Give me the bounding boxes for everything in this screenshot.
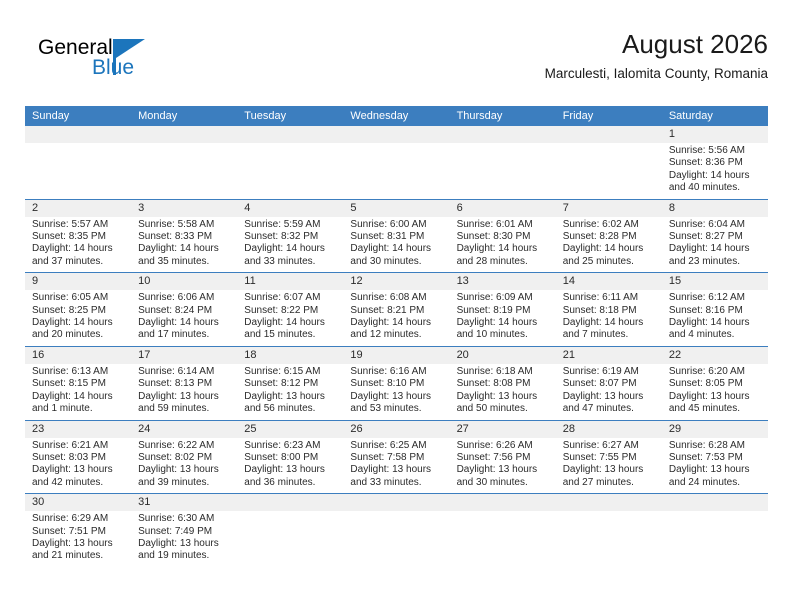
day-number: 12 bbox=[350, 273, 442, 290]
day-detail-line: Sunset: 8:15 PM bbox=[32, 378, 124, 390]
day-number: 30 bbox=[32, 494, 124, 511]
calendar-day-cell[interactable]: 28Sunrise: 6:27 AMSunset: 7:55 PMDayligh… bbox=[556, 421, 662, 494]
day-number: 13 bbox=[457, 273, 549, 290]
day-detail-lines: Sunrise: 6:29 AMSunset: 7:51 PMDaylight:… bbox=[32, 513, 124, 563]
day-detail-line: and 21 minutes. bbox=[32, 550, 124, 562]
day-detail-line: Sunset: 8:08 PM bbox=[457, 378, 549, 390]
day-detail-line: Daylight: 14 hours bbox=[138, 243, 230, 255]
calendar-day-cell[interactable]: 2Sunrise: 5:57 AMSunset: 8:35 PMDaylight… bbox=[25, 200, 131, 273]
day-detail-line: Sunset: 8:33 PM bbox=[138, 231, 230, 243]
calendar-day-cell[interactable]: 24Sunrise: 6:22 AMSunset: 8:02 PMDayligh… bbox=[131, 421, 237, 494]
day-detail-line: Sunrise: 6:04 AM bbox=[669, 219, 761, 231]
day-detail-line: Sunrise: 5:59 AM bbox=[244, 219, 336, 231]
day-detail-line: Sunrise: 5:58 AM bbox=[138, 219, 230, 231]
calendar-week-days: 1Sunrise: 5:56 AMSunset: 8:36 PMDaylight… bbox=[25, 126, 768, 199]
day-detail-line: Sunrise: 6:21 AM bbox=[32, 440, 124, 452]
day-detail-line: Sunrise: 6:07 AM bbox=[244, 292, 336, 304]
day-number: 10 bbox=[138, 273, 230, 290]
day-number: 21 bbox=[563, 347, 655, 364]
day-number: 27 bbox=[457, 421, 549, 438]
calendar-day-cell[interactable]: 23Sunrise: 6:21 AMSunset: 8:03 PMDayligh… bbox=[25, 421, 131, 494]
day-detail-line: Daylight: 13 hours bbox=[244, 391, 336, 403]
day-number: 24 bbox=[138, 421, 230, 438]
day-number: 26 bbox=[350, 421, 442, 438]
logo-text-blue: Blue bbox=[92, 56, 134, 80]
calendar-day-cell-empty bbox=[237, 126, 343, 199]
weekday-header-tuesday: Tuesday bbox=[237, 106, 343, 126]
day-detail-lines: Sunrise: 6:20 AMSunset: 8:05 PMDaylight:… bbox=[669, 366, 761, 416]
day-detail-line: Sunrise: 6:05 AM bbox=[32, 292, 124, 304]
calendar-day-cell[interactable]: 31Sunrise: 6:30 AMSunset: 7:49 PMDayligh… bbox=[131, 494, 237, 567]
calendar-day-cell[interactable]: 6Sunrise: 6:01 AMSunset: 8:30 PMDaylight… bbox=[450, 200, 556, 273]
day-detail-line: Sunrise: 6:01 AM bbox=[457, 219, 549, 231]
day-detail-line: Sunset: 7:49 PM bbox=[138, 526, 230, 538]
calendar-day-cell-empty bbox=[450, 126, 556, 199]
day-detail-line: Sunrise: 6:09 AM bbox=[457, 292, 549, 304]
day-detail-line: and 33 minutes. bbox=[244, 256, 336, 268]
day-detail-lines: Sunrise: 6:25 AMSunset: 7:58 PMDaylight:… bbox=[350, 440, 442, 490]
calendar-day-cell[interactable]: 16Sunrise: 6:13 AMSunset: 8:15 PMDayligh… bbox=[25, 347, 131, 420]
day-number: 9 bbox=[32, 273, 124, 290]
calendar-grid: SundayMondayTuesdayWednesdayThursdayFrid… bbox=[25, 106, 768, 567]
day-detail-lines: Sunrise: 6:04 AMSunset: 8:27 PMDaylight:… bbox=[669, 219, 761, 269]
calendar-week-days: 2Sunrise: 5:57 AMSunset: 8:35 PMDaylight… bbox=[25, 200, 768, 273]
day-detail-line: Sunrise: 6:14 AM bbox=[138, 366, 230, 378]
day-detail-line: Sunrise: 6:25 AM bbox=[350, 440, 442, 452]
day-number: 3 bbox=[138, 200, 230, 217]
day-detail-line: Sunrise: 6:26 AM bbox=[457, 440, 549, 452]
day-detail-line: Sunset: 8:19 PM bbox=[457, 305, 549, 317]
day-detail-line: Sunrise: 5:57 AM bbox=[32, 219, 124, 231]
day-detail-line: and 27 minutes. bbox=[563, 477, 655, 489]
day-detail-line: Sunset: 8:24 PM bbox=[138, 305, 230, 317]
day-detail-line: and 25 minutes. bbox=[563, 256, 655, 268]
day-detail-lines: Sunrise: 6:02 AMSunset: 8:28 PMDaylight:… bbox=[563, 219, 655, 269]
day-detail-line: Daylight: 14 hours bbox=[244, 243, 336, 255]
day-detail-line: Daylight: 14 hours bbox=[563, 317, 655, 329]
day-detail-line: Sunset: 8:22 PM bbox=[244, 305, 336, 317]
calendar-day-cell[interactable]: 13Sunrise: 6:09 AMSunset: 8:19 PMDayligh… bbox=[450, 273, 556, 346]
calendar-week-row: 1Sunrise: 5:56 AMSunset: 8:36 PMDaylight… bbox=[25, 126, 768, 200]
day-detail-line: Daylight: 13 hours bbox=[563, 464, 655, 476]
day-detail-line: Daylight: 14 hours bbox=[138, 317, 230, 329]
day-detail-lines: Sunrise: 6:05 AMSunset: 8:25 PMDaylight:… bbox=[32, 292, 124, 342]
day-number: 2 bbox=[32, 200, 124, 217]
day-detail-line: Daylight: 13 hours bbox=[350, 464, 442, 476]
day-detail-line: Sunrise: 6:02 AM bbox=[563, 219, 655, 231]
day-detail-line: Sunset: 7:56 PM bbox=[457, 452, 549, 464]
day-detail-lines: Sunrise: 5:57 AMSunset: 8:35 PMDaylight:… bbox=[32, 219, 124, 269]
day-detail-line: and 15 minutes. bbox=[244, 329, 336, 341]
day-detail-line: and 56 minutes. bbox=[244, 403, 336, 415]
weekday-header-wednesday: Wednesday bbox=[343, 106, 449, 126]
day-detail-lines: Sunrise: 6:18 AMSunset: 8:08 PMDaylight:… bbox=[457, 366, 549, 416]
day-detail-line: and 12 minutes. bbox=[350, 329, 442, 341]
day-detail-line: Sunset: 8:28 PM bbox=[563, 231, 655, 243]
day-detail-line: Sunset: 8:36 PM bbox=[669, 157, 761, 169]
day-detail-line: and 10 minutes. bbox=[457, 329, 549, 341]
calendar-day-cell[interactable]: 30Sunrise: 6:29 AMSunset: 7:51 PMDayligh… bbox=[25, 494, 131, 567]
day-detail-line: Sunrise: 6:23 AM bbox=[244, 440, 336, 452]
calendar-day-cell[interactable]: 17Sunrise: 6:14 AMSunset: 8:13 PMDayligh… bbox=[131, 347, 237, 420]
generalblue-logo[interactable]: General Blue bbox=[38, 36, 168, 88]
day-detail-line: Sunrise: 6:20 AM bbox=[669, 366, 761, 378]
day-number: 23 bbox=[32, 421, 124, 438]
calendar-day-cell[interactable]: 1Sunrise: 5:56 AMSunset: 8:36 PMDaylight… bbox=[662, 126, 768, 199]
calendar-day-cell-empty bbox=[343, 126, 449, 199]
day-detail-line: and 17 minutes. bbox=[138, 329, 230, 341]
calendar-day-cell-empty bbox=[556, 126, 662, 199]
day-detail-line: Daylight: 13 hours bbox=[244, 464, 336, 476]
title-block: August 2026 Marculesti, Ialomita County,… bbox=[545, 28, 768, 84]
calendar-week-days: 9Sunrise: 6:05 AMSunset: 8:25 PMDaylight… bbox=[25, 273, 768, 346]
day-detail-line: Sunrise: 6:16 AM bbox=[350, 366, 442, 378]
day-detail-line: Sunrise: 6:00 AM bbox=[350, 219, 442, 231]
day-detail-line: Daylight: 13 hours bbox=[563, 391, 655, 403]
day-number: 5 bbox=[350, 200, 442, 217]
day-number: 4 bbox=[244, 200, 336, 217]
day-number: 18 bbox=[244, 347, 336, 364]
day-detail-line: Sunrise: 6:15 AM bbox=[244, 366, 336, 378]
page-subtitle: Marculesti, Ialomita County, Romania bbox=[545, 64, 768, 84]
calendar-week-row: 23Sunrise: 6:21 AMSunset: 8:03 PMDayligh… bbox=[25, 421, 768, 495]
day-detail-line: Daylight: 14 hours bbox=[32, 243, 124, 255]
day-detail-line: Daylight: 14 hours bbox=[457, 317, 549, 329]
calendar-day-cell-empty bbox=[450, 494, 556, 567]
day-detail-line: Daylight: 13 hours bbox=[138, 538, 230, 550]
day-detail-line: Sunrise: 6:30 AM bbox=[138, 513, 230, 525]
day-detail-line: Sunrise: 6:13 AM bbox=[32, 366, 124, 378]
day-detail-line: Daylight: 14 hours bbox=[32, 317, 124, 329]
calendar-day-cell-empty bbox=[343, 494, 449, 567]
day-detail-line: Sunset: 7:58 PM bbox=[350, 452, 442, 464]
day-detail-line: Daylight: 14 hours bbox=[669, 317, 761, 329]
day-detail-line: Sunset: 7:53 PM bbox=[669, 452, 761, 464]
day-number: 11 bbox=[244, 273, 336, 290]
day-detail-line: and 35 minutes. bbox=[138, 256, 230, 268]
day-detail-line: Sunrise: 6:12 AM bbox=[669, 292, 761, 304]
day-detail-lines: Sunrise: 6:22 AMSunset: 8:02 PMDaylight:… bbox=[138, 440, 230, 490]
day-detail-lines: Sunrise: 6:08 AMSunset: 8:21 PMDaylight:… bbox=[350, 292, 442, 342]
calendar-day-cell[interactable]: 3Sunrise: 5:58 AMSunset: 8:33 PMDaylight… bbox=[131, 200, 237, 273]
calendar-week-days: 23Sunrise: 6:21 AMSunset: 8:03 PMDayligh… bbox=[25, 421, 768, 494]
calendar-day-cell[interactable]: 15Sunrise: 6:12 AMSunset: 8:16 PMDayligh… bbox=[662, 273, 768, 346]
day-detail-lines: Sunrise: 6:30 AMSunset: 7:49 PMDaylight:… bbox=[138, 513, 230, 563]
calendar-day-cell[interactable]: 9Sunrise: 6:05 AMSunset: 8:25 PMDaylight… bbox=[25, 273, 131, 346]
day-detail-line: Sunrise: 6:29 AM bbox=[32, 513, 124, 525]
day-number: 31 bbox=[138, 494, 230, 511]
day-detail-line: and 23 minutes. bbox=[669, 256, 761, 268]
day-detail-lines: Sunrise: 5:59 AMSunset: 8:32 PMDaylight:… bbox=[244, 219, 336, 269]
day-detail-line: Daylight: 14 hours bbox=[669, 170, 761, 182]
day-detail-line: Daylight: 13 hours bbox=[32, 538, 124, 550]
day-detail-lines: Sunrise: 6:16 AMSunset: 8:10 PMDaylight:… bbox=[350, 366, 442, 416]
day-detail-line: Sunset: 8:30 PM bbox=[457, 231, 549, 243]
day-detail-lines: Sunrise: 6:28 AMSunset: 7:53 PMDaylight:… bbox=[669, 440, 761, 490]
day-detail-line: Sunrise: 6:11 AM bbox=[563, 292, 655, 304]
calendar-day-cell[interactable]: 5Sunrise: 6:00 AMSunset: 8:31 PMDaylight… bbox=[343, 200, 449, 273]
day-detail-line: Daylight: 13 hours bbox=[32, 464, 124, 476]
calendar-day-cell[interactable]: 10Sunrise: 6:06 AMSunset: 8:24 PMDayligh… bbox=[131, 273, 237, 346]
calendar-day-cell-empty bbox=[237, 494, 343, 567]
day-detail-line: and 1 minute. bbox=[32, 403, 124, 415]
calendar-week-days: 30Sunrise: 6:29 AMSunset: 7:51 PMDayligh… bbox=[25, 494, 768, 567]
day-detail-line: Daylight: 13 hours bbox=[138, 464, 230, 476]
calendar-day-cell[interactable]: 12Sunrise: 6:08 AMSunset: 8:21 PMDayligh… bbox=[343, 273, 449, 346]
day-detail-line: and 36 minutes. bbox=[244, 477, 336, 489]
day-detail-line: Sunset: 8:10 PM bbox=[350, 378, 442, 390]
day-detail-line: and 4 minutes. bbox=[669, 329, 761, 341]
day-detail-lines: Sunrise: 6:07 AMSunset: 8:22 PMDaylight:… bbox=[244, 292, 336, 342]
day-number: 1 bbox=[669, 126, 761, 143]
day-detail-line: Daylight: 14 hours bbox=[669, 243, 761, 255]
calendar-day-cell[interactable]: 27Sunrise: 6:26 AMSunset: 7:56 PMDayligh… bbox=[450, 421, 556, 494]
calendar-week-row: 30Sunrise: 6:29 AMSunset: 7:51 PMDayligh… bbox=[25, 494, 768, 567]
calendar-day-cell-empty bbox=[556, 494, 662, 567]
calendar-day-cell[interactable]: 20Sunrise: 6:18 AMSunset: 8:08 PMDayligh… bbox=[450, 347, 556, 420]
calendar-day-cell-empty bbox=[662, 494, 768, 567]
day-detail-line: Sunset: 8:16 PM bbox=[669, 305, 761, 317]
day-detail-lines: Sunrise: 6:27 AMSunset: 7:55 PMDaylight:… bbox=[563, 440, 655, 490]
day-detail-line: Sunset: 8:12 PM bbox=[244, 378, 336, 390]
day-detail-line: Sunset: 7:51 PM bbox=[32, 526, 124, 538]
day-detail-line: Daylight: 13 hours bbox=[669, 464, 761, 476]
weekday-header-monday: Monday bbox=[131, 106, 237, 126]
day-detail-line: and 7 minutes. bbox=[563, 329, 655, 341]
day-detail-lines: Sunrise: 6:14 AMSunset: 8:13 PMDaylight:… bbox=[138, 366, 230, 416]
calendar-day-cell[interactable]: 4Sunrise: 5:59 AMSunset: 8:32 PMDaylight… bbox=[237, 200, 343, 273]
day-detail-lines: Sunrise: 6:12 AMSunset: 8:16 PMDaylight:… bbox=[669, 292, 761, 342]
day-detail-line: Daylight: 13 hours bbox=[457, 391, 549, 403]
weekday-header-saturday: Saturday bbox=[662, 106, 768, 126]
day-detail-line: and 42 minutes. bbox=[32, 477, 124, 489]
day-detail-line: and 30 minutes. bbox=[457, 477, 549, 489]
calendar-week-days: 16Sunrise: 6:13 AMSunset: 8:15 PMDayligh… bbox=[25, 347, 768, 420]
day-number: 7 bbox=[563, 200, 655, 217]
day-detail-lines: Sunrise: 6:23 AMSunset: 8:00 PMDaylight:… bbox=[244, 440, 336, 490]
day-number: 20 bbox=[457, 347, 549, 364]
calendar-day-cell[interactable]: 14Sunrise: 6:11 AMSunset: 8:18 PMDayligh… bbox=[556, 273, 662, 346]
day-number: 15 bbox=[669, 273, 761, 290]
day-detail-line: and 28 minutes. bbox=[457, 256, 549, 268]
day-detail-line: Sunrise: 6:08 AM bbox=[350, 292, 442, 304]
day-detail-lines: Sunrise: 6:01 AMSunset: 8:30 PMDaylight:… bbox=[457, 219, 549, 269]
day-detail-line: and 47 minutes. bbox=[563, 403, 655, 415]
day-detail-line: Sunrise: 6:27 AM bbox=[563, 440, 655, 452]
day-detail-line: and 39 minutes. bbox=[138, 477, 230, 489]
day-detail-line: and 30 minutes. bbox=[350, 256, 442, 268]
calendar-day-cell[interactable]: 21Sunrise: 6:19 AMSunset: 8:07 PMDayligh… bbox=[556, 347, 662, 420]
day-detail-line: Daylight: 13 hours bbox=[350, 391, 442, 403]
day-detail-line: Sunrise: 6:19 AM bbox=[563, 366, 655, 378]
day-detail-lines: Sunrise: 6:11 AMSunset: 8:18 PMDaylight:… bbox=[563, 292, 655, 342]
day-detail-line: Daylight: 13 hours bbox=[669, 391, 761, 403]
calendar-week-row: 16Sunrise: 6:13 AMSunset: 8:15 PMDayligh… bbox=[25, 347, 768, 421]
day-number: 14 bbox=[563, 273, 655, 290]
day-number: 6 bbox=[457, 200, 549, 217]
day-detail-line: Daylight: 14 hours bbox=[244, 317, 336, 329]
day-detail-line: and 19 minutes. bbox=[138, 550, 230, 562]
day-detail-lines: Sunrise: 6:21 AMSunset: 8:03 PMDaylight:… bbox=[32, 440, 124, 490]
calendar-page: General Blue August 2026 Marculesti, Ial… bbox=[0, 0, 792, 612]
calendar-day-cell[interactable]: 11Sunrise: 6:07 AMSunset: 8:22 PMDayligh… bbox=[237, 273, 343, 346]
day-detail-line: and 53 minutes. bbox=[350, 403, 442, 415]
day-number: 19 bbox=[350, 347, 442, 364]
day-detail-line: Daylight: 13 hours bbox=[138, 391, 230, 403]
calendar-day-cell[interactable]: 18Sunrise: 6:15 AMSunset: 8:12 PMDayligh… bbox=[237, 347, 343, 420]
day-detail-line: Sunset: 8:00 PM bbox=[244, 452, 336, 464]
calendar-day-cell-empty bbox=[25, 126, 131, 199]
day-detail-lines: Sunrise: 6:06 AMSunset: 8:24 PMDaylight:… bbox=[138, 292, 230, 342]
calendar-body: 1Sunrise: 5:56 AMSunset: 8:36 PMDaylight… bbox=[25, 126, 768, 567]
day-detail-line: and 59 minutes. bbox=[138, 403, 230, 415]
day-detail-line: Sunset: 8:07 PM bbox=[563, 378, 655, 390]
day-detail-line: Sunset: 8:05 PM bbox=[669, 378, 761, 390]
day-detail-line: and 50 minutes. bbox=[457, 403, 549, 415]
calendar-day-cell[interactable]: 19Sunrise: 6:16 AMSunset: 8:10 PMDayligh… bbox=[343, 347, 449, 420]
day-detail-line: Sunset: 8:13 PM bbox=[138, 378, 230, 390]
day-detail-line: Sunrise: 6:22 AM bbox=[138, 440, 230, 452]
day-number: 8 bbox=[669, 200, 761, 217]
day-detail-line: and 33 minutes. bbox=[350, 477, 442, 489]
day-detail-line: Sunrise: 6:28 AM bbox=[669, 440, 761, 452]
day-number: 28 bbox=[563, 421, 655, 438]
page-title: August 2026 bbox=[545, 28, 768, 60]
day-detail-line: Sunset: 8:25 PM bbox=[32, 305, 124, 317]
day-detail-line: Daylight: 14 hours bbox=[563, 243, 655, 255]
day-detail-line: and 20 minutes. bbox=[32, 329, 124, 341]
calendar-day-cell[interactable]: 29Sunrise: 6:28 AMSunset: 7:53 PMDayligh… bbox=[662, 421, 768, 494]
day-detail-line: Daylight: 14 hours bbox=[457, 243, 549, 255]
day-detail-line: Sunset: 8:27 PM bbox=[669, 231, 761, 243]
calendar-day-cell-empty bbox=[131, 126, 237, 199]
day-detail-lines: Sunrise: 6:13 AMSunset: 8:15 PMDaylight:… bbox=[32, 366, 124, 416]
day-detail-line: Daylight: 13 hours bbox=[457, 464, 549, 476]
day-number: 22 bbox=[669, 347, 761, 364]
calendar-day-cell[interactable]: 25Sunrise: 6:23 AMSunset: 8:00 PMDayligh… bbox=[237, 421, 343, 494]
calendar-day-cell[interactable]: 22Sunrise: 6:20 AMSunset: 8:05 PMDayligh… bbox=[662, 347, 768, 420]
day-detail-line: Sunset: 8:03 PM bbox=[32, 452, 124, 464]
day-detail-line: Sunset: 8:32 PM bbox=[244, 231, 336, 243]
day-number: 17 bbox=[138, 347, 230, 364]
day-number: 25 bbox=[244, 421, 336, 438]
day-detail-line: Sunset: 7:55 PM bbox=[563, 452, 655, 464]
calendar-day-cell[interactable]: 8Sunrise: 6:04 AMSunset: 8:27 PMDaylight… bbox=[662, 200, 768, 273]
day-detail-line: and 24 minutes. bbox=[669, 477, 761, 489]
day-detail-lines: Sunrise: 6:15 AMSunset: 8:12 PMDaylight:… bbox=[244, 366, 336, 416]
day-detail-line: and 40 minutes. bbox=[669, 182, 761, 194]
calendar-week-row: 2Sunrise: 5:57 AMSunset: 8:35 PMDaylight… bbox=[25, 200, 768, 274]
weekday-header-row: SundayMondayTuesdayWednesdayThursdayFrid… bbox=[25, 106, 768, 126]
day-detail-line: Sunrise: 6:18 AM bbox=[457, 366, 549, 378]
day-detail-line: Sunrise: 6:06 AM bbox=[138, 292, 230, 304]
weekday-header-friday: Friday bbox=[556, 106, 662, 126]
day-detail-line: Daylight: 14 hours bbox=[32, 391, 124, 403]
day-number: 29 bbox=[669, 421, 761, 438]
day-detail-lines: Sunrise: 6:19 AMSunset: 8:07 PMDaylight:… bbox=[563, 366, 655, 416]
day-detail-line: and 37 minutes. bbox=[32, 256, 124, 268]
day-detail-line: Sunset: 8:21 PM bbox=[350, 305, 442, 317]
day-detail-lines: Sunrise: 6:00 AMSunset: 8:31 PMDaylight:… bbox=[350, 219, 442, 269]
weekday-header-sunday: Sunday bbox=[25, 106, 131, 126]
day-detail-lines: Sunrise: 6:09 AMSunset: 8:19 PMDaylight:… bbox=[457, 292, 549, 342]
day-detail-lines: Sunrise: 5:58 AMSunset: 8:33 PMDaylight:… bbox=[138, 219, 230, 269]
day-number: 16 bbox=[32, 347, 124, 364]
day-detail-lines: Sunrise: 5:56 AMSunset: 8:36 PMDaylight:… bbox=[669, 145, 761, 195]
day-detail-line: Sunset: 8:35 PM bbox=[32, 231, 124, 243]
day-detail-lines: Sunrise: 6:26 AMSunset: 7:56 PMDaylight:… bbox=[457, 440, 549, 490]
day-detail-line: Daylight: 14 hours bbox=[350, 243, 442, 255]
page-header: General Blue August 2026 Marculesti, Ial… bbox=[25, 28, 768, 98]
day-detail-line: Daylight: 14 hours bbox=[350, 317, 442, 329]
day-detail-line: Sunrise: 5:56 AM bbox=[669, 145, 761, 157]
day-detail-line: Sunset: 8:18 PM bbox=[563, 305, 655, 317]
day-detail-line: Sunset: 8:31 PM bbox=[350, 231, 442, 243]
day-detail-line: Sunset: 8:02 PM bbox=[138, 452, 230, 464]
calendar-week-row: 9Sunrise: 6:05 AMSunset: 8:25 PMDaylight… bbox=[25, 273, 768, 347]
weekday-header-thursday: Thursday bbox=[450, 106, 556, 126]
day-detail-line: and 45 minutes. bbox=[669, 403, 761, 415]
calendar-day-cell[interactable]: 26Sunrise: 6:25 AMSunset: 7:58 PMDayligh… bbox=[343, 421, 449, 494]
calendar-day-cell[interactable]: 7Sunrise: 6:02 AMSunset: 8:28 PMDaylight… bbox=[556, 200, 662, 273]
